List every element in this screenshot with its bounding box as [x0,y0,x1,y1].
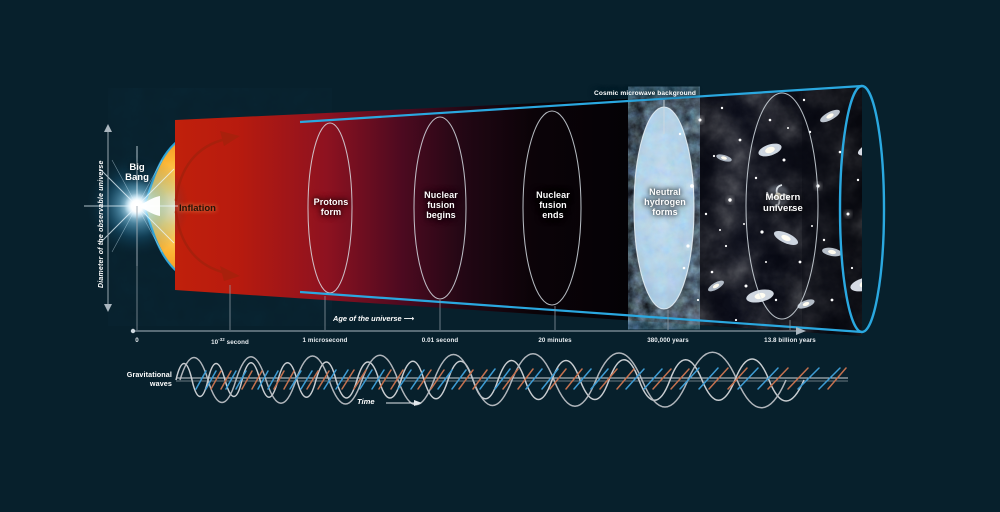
fusion-begins-line-3: begins [410,210,472,220]
stage-label-inflation: Inflation [179,203,216,214]
fusion-ends-line-3: ends [522,210,584,220]
gw-label-line-1: Gravitational [90,370,172,379]
fusion-begins-line-1: Nuclear [410,190,472,200]
stage-label-protons-form: Protons form [303,197,359,217]
stage-label-nuclear-fusion-ends: Nuclear fusion ends [522,190,584,220]
stage-label-big-bang: Big Bang [105,163,169,184]
gw-time-label: Time [357,397,375,406]
tick-label-20-minutes: 20 minutes [521,337,589,344]
tick-1-exponent: -32 [218,337,225,342]
diameter-axis-label: Diameter of the observable universe [98,160,105,288]
tick-label-inflation-end: 10-32 second [196,337,264,346]
fusion-ends-line-1: Nuclear [522,190,584,200]
fusion-ends-line-2: fusion [522,200,584,210]
age-axis-caption: Age of the universe ⟶ [333,314,414,323]
neutral-hydrogen-line-1: Neutral [634,187,696,197]
big-bang-line-2: Bang [105,173,169,183]
protons-form-line-1: Protons [303,197,359,207]
stage-label-neutral-hydrogen-forms: Neutral hydrogen forms [634,187,696,217]
cmb-callout-label: Cosmic microwave background [594,90,696,97]
modern-universe-line-2: universe [750,204,816,215]
stage-label-nuclear-fusion-begins: Nuclear fusion begins [410,190,472,220]
wave-long [180,352,786,408]
tick-label-138-billion-years: 13.8 billion years [744,337,836,344]
tick-label-380000-years: 380,000 years [628,337,708,344]
stage-label-modern-universe: Modern universe [750,193,816,214]
neutral-hydrogen-line-2: hydrogen [634,197,696,207]
tick-label-0: 0 [127,337,147,344]
protons-form-line-2: form [303,207,359,217]
universe-cone-artwork [0,0,1000,512]
neutral-hydrogen-line-3: forms [634,207,696,217]
gravitational-waves-diagram [176,352,848,408]
tick-1-suffix: second [225,339,249,346]
gw-label-line-2: waves [90,379,172,388]
tick-label-microsecond: 1 microsecond [288,337,362,344]
age-axis-caption-text: Age of the universe [333,314,402,323]
cosmic-timeline-figure: Diameter of the observable universe Cosm… [0,0,1000,512]
gravitational-waves-label: Gravitational waves [90,370,172,388]
tick-label-hundredth-second: 0.01 second [406,337,474,344]
wave-short [176,359,804,401]
age-axis-caption-arrow: ⟶ [404,314,415,323]
fusion-begins-line-2: fusion [410,200,472,210]
